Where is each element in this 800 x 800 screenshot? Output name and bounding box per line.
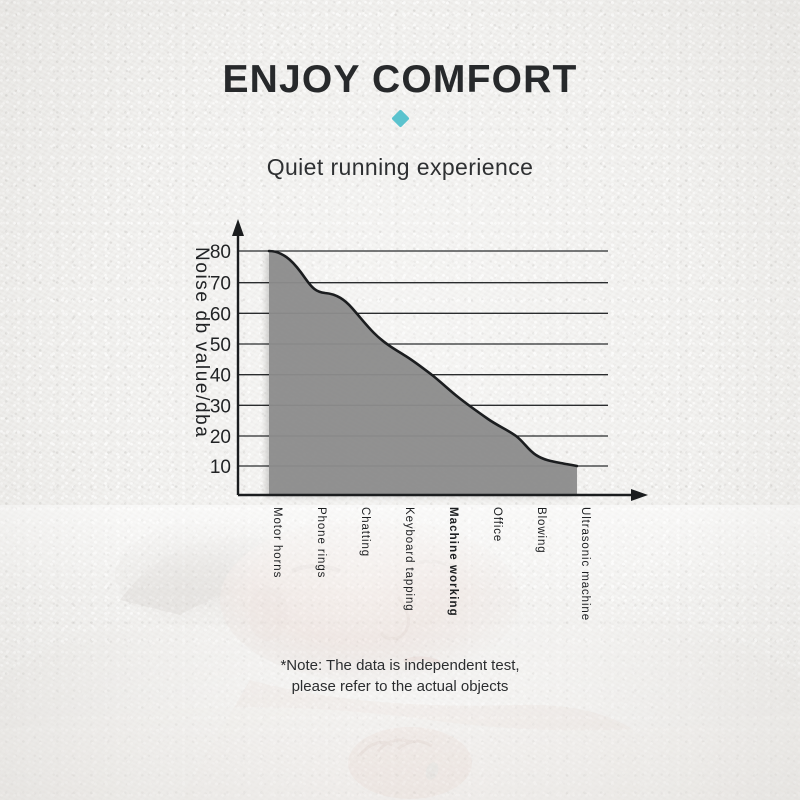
x-category-label-highlighted: Machine working (447, 507, 459, 617)
y-axis-title: Noise db value/dba (191, 247, 212, 438)
x-category-label: Keyboard tapping (403, 507, 415, 612)
poster: ENJOY COMFORT Quiet running experience (0, 0, 800, 800)
x-axis-categories: Motor horns Phone rings Chatting Keyboar… (271, 507, 591, 621)
y-tick-label: 50 (210, 335, 231, 356)
x-category-label: Blowing (535, 507, 547, 554)
x-category-label: Office (491, 507, 503, 542)
y-axis-ticks: 80 70 60 50 40 30 20 10 (210, 242, 231, 478)
x-category-label: Motor horns (271, 507, 283, 578)
chart-note-line-1: *Note: The data is independent test, (0, 655, 800, 676)
x-category-label: Chatting (359, 507, 371, 557)
chart-area-fill (269, 251, 577, 495)
y-tick-label: 40 (210, 366, 231, 387)
y-tick-label: 60 (210, 304, 231, 325)
x-category-label: Phone rings (315, 507, 327, 578)
chart-note-line-2: please refer to the actual objects (0, 676, 800, 697)
y-tick-label: 70 (210, 274, 231, 295)
x-category-label: Ultrasonic machine (579, 507, 591, 621)
y-tick-label: 20 (210, 427, 231, 448)
y-tick-label: 30 (210, 396, 231, 417)
y-tick-label: 80 (210, 242, 231, 263)
chart-note: *Note: The data is independent test, ple… (0, 655, 800, 697)
y-tick-label: 10 (210, 457, 231, 478)
